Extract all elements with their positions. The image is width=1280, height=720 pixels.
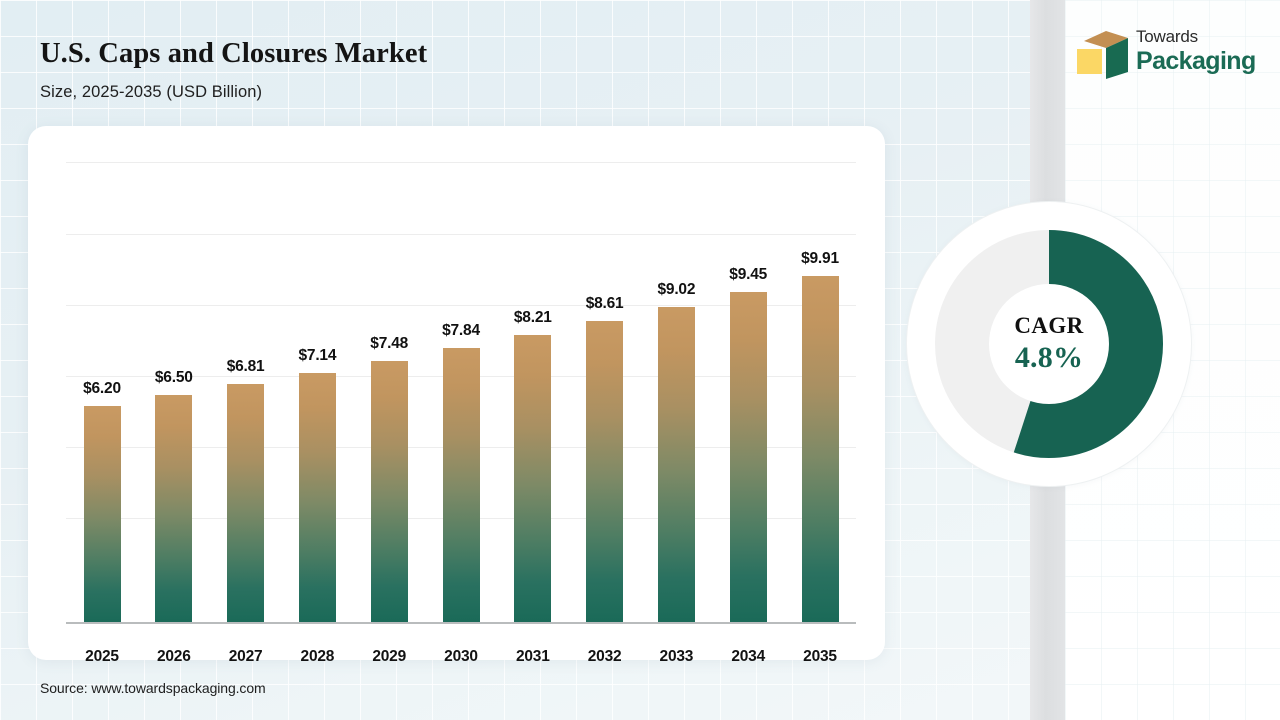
x-axis-label: 2025 <box>66 648 138 666</box>
gridline <box>66 162 856 163</box>
bar-rect[interactable] <box>299 373 336 622</box>
bar-value-label: $9.91 <box>801 250 839 268</box>
bar-column: $8.61 <box>569 295 641 622</box>
bar-value-label: $6.81 <box>227 358 265 376</box>
bar-rect[interactable] <box>443 348 480 622</box>
page-title: U.S. Caps and Closures Market <box>40 38 740 71</box>
logo-text-packaging: Packaging <box>1136 47 1256 75</box>
bar-rect[interactable] <box>658 307 695 622</box>
bar-rect[interactable] <box>514 335 551 622</box>
x-axis-label: 2035 <box>784 648 856 666</box>
chart-card: $6.20$6.50$6.81$7.14$7.48$7.84$8.21$8.61… <box>28 126 885 660</box>
bar-rect[interactable] <box>227 384 264 622</box>
x-axis-label: 2026 <box>138 648 210 666</box>
bar-chart-plot-area: $6.20$6.50$6.81$7.14$7.48$7.84$8.21$8.61… <box>66 160 856 624</box>
bar-value-label: $7.14 <box>298 347 336 365</box>
bar-rect[interactable] <box>802 276 839 622</box>
x-axis-label: 2032 <box>569 648 641 666</box>
bar-rect[interactable] <box>586 321 623 622</box>
header: U.S. Caps and Closures Market Size, 2025… <box>40 38 740 102</box>
x-axis-label: 2031 <box>497 648 569 666</box>
bar-column: $9.02 <box>640 281 712 622</box>
bar-value-label: $8.61 <box>586 295 624 313</box>
bar-value-label: $9.45 <box>729 266 767 284</box>
bar-rect[interactable] <box>155 395 192 622</box>
bar-column: $8.21 <box>497 309 569 622</box>
bar-column: $7.14 <box>281 347 353 622</box>
cagr-value: 4.8% <box>1015 341 1083 375</box>
page-background: U.S. Caps and Closures Market Size, 2025… <box>0 0 1280 720</box>
x-axis-label: 2030 <box>425 648 497 666</box>
x-axis-label: 2033 <box>640 648 712 666</box>
bar-column: $6.81 <box>210 358 282 622</box>
bar-column: $9.91 <box>784 250 856 622</box>
bar-rect[interactable] <box>730 292 767 622</box>
gridline <box>66 234 856 235</box>
bar-value-label: $8.21 <box>514 309 552 327</box>
bar-value-label: $6.20 <box>83 380 121 398</box>
bar-value-label: $6.50 <box>155 369 193 387</box>
bar-column: $6.20 <box>66 380 138 622</box>
source-note: Source: www.towardspackaging.com <box>40 680 266 696</box>
logo-text-towards: Towards <box>1136 26 1256 47</box>
bar-column: $9.45 <box>712 266 784 622</box>
cagr-center: CAGR 4.8% <box>989 284 1109 404</box>
bar-rect[interactable] <box>84 406 121 622</box>
logo-wordmark: Towards Packaging <box>1136 26 1256 75</box>
x-axis-label: 2029 <box>353 648 425 666</box>
bar-column: $7.84 <box>425 322 497 622</box>
box-logo-icon <box>1072 30 1130 80</box>
bar-column: $7.48 <box>353 335 425 622</box>
cagr-label: CAGR <box>1014 313 1083 339</box>
brand-logo: Towards Packaging <box>1072 26 1262 84</box>
page-subtitle: Size, 2025-2035 (USD Billion) <box>40 83 740 102</box>
bar-value-label: $7.84 <box>442 322 480 340</box>
x-axis-line <box>66 622 856 624</box>
bar-value-label: $9.02 <box>657 281 695 299</box>
x-axis-label: 2028 <box>281 648 353 666</box>
x-axis-label: 2034 <box>712 648 784 666</box>
bar-rect[interactable] <box>371 361 408 622</box>
cagr-donut-chart: CAGR 4.8% <box>906 201 1192 487</box>
bar-value-label: $7.48 <box>370 335 408 353</box>
bar-column: $6.50 <box>138 369 210 622</box>
x-axis-label: 2027 <box>210 648 282 666</box>
